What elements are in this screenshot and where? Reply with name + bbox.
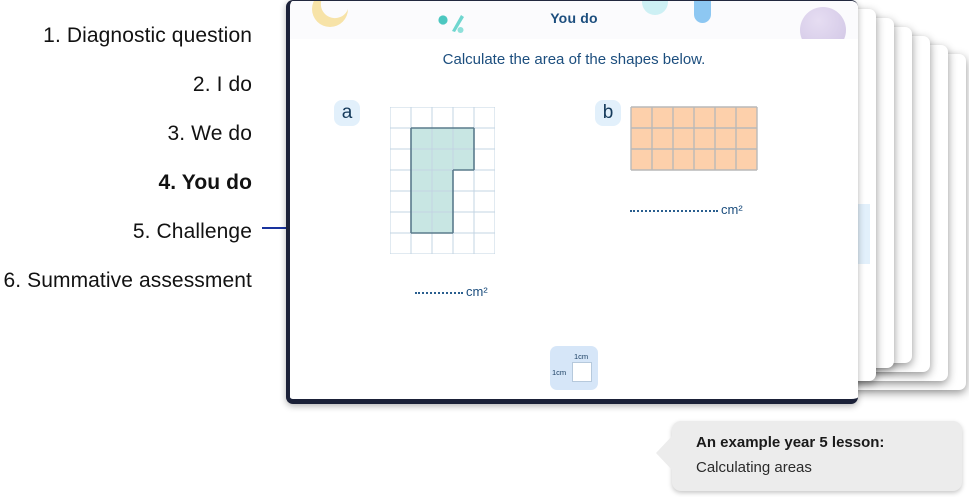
shape-a-answer-blank[interactable] <box>415 282 463 294</box>
active-slide-card[interactable]: You do Calculate the area of the shapes … <box>286 0 858 404</box>
shape-a-grid <box>390 107 495 254</box>
scale-key-left-label: 1cm <box>552 368 566 377</box>
shape-b-unit: cm² <box>721 202 743 217</box>
callout-notch <box>656 435 673 471</box>
lesson-slide-stack: cm³ You do Calculate the area of the sha… <box>286 0 966 420</box>
shape-a-svg <box>390 107 495 254</box>
scale-key-top-label: 1cm <box>574 352 588 361</box>
shape-a-answer[interactable]: cm² <box>415 282 488 299</box>
shape-a-unit: cm² <box>466 284 488 299</box>
lesson-step-2[interactable]: 2. I do <box>0 71 252 98</box>
callout-title: An example year 5 lesson: <box>696 434 884 451</box>
shape-b-grid <box>630 106 758 176</box>
scale-key: 1cm 1cm <box>550 346 598 390</box>
slide-header-bar: You do <box>290 1 858 39</box>
lesson-step-5[interactable]: 5. Challenge <box>0 218 252 245</box>
lesson-step-6[interactable]: 6. Summative assessment <box>0 267 252 294</box>
scale-key-square <box>572 362 592 382</box>
callout-subtitle: Calculating areas <box>696 459 812 476</box>
lesson-example-callout: An example year 5 lesson: Calculating ar… <box>672 421 962 491</box>
slide-title: You do <box>290 10 858 26</box>
slide-question-text: Calculate the area of the shapes below. <box>290 51 858 68</box>
lesson-step-1[interactable]: 1. Diagnostic question <box>0 22 252 49</box>
shape-b-svg <box>630 106 758 171</box>
shape-b-answer[interactable]: cm² <box>630 200 743 217</box>
shape-b-badge: b <box>595 100 621 126</box>
shape-b-answer-blank[interactable] <box>630 200 718 212</box>
lesson-step-list: 1. Diagnostic question 2. I do 3. We do … <box>0 22 252 316</box>
shape-a-badge: a <box>334 100 360 126</box>
lesson-step-4[interactable]: 4. You do <box>0 169 252 196</box>
lesson-step-3[interactable]: 3. We do <box>0 120 252 147</box>
